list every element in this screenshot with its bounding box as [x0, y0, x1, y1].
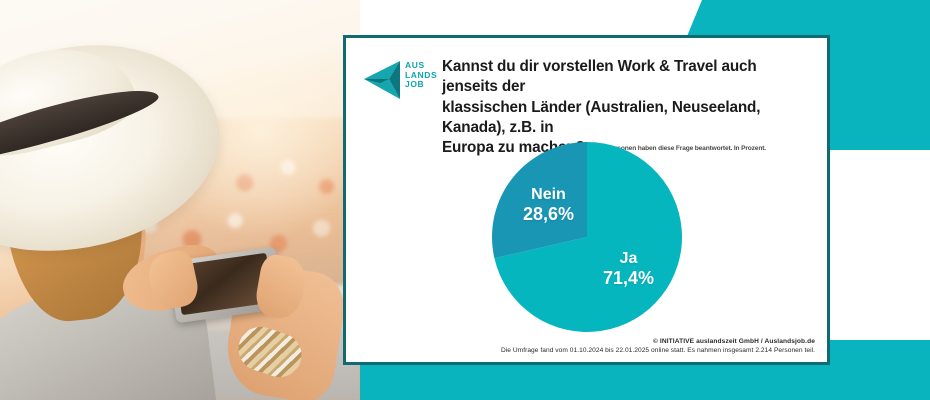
pie-chart: Nein 28,6% Ja 71,4%: [346, 142, 827, 332]
pie-label-ja-value: 71,4%: [592, 268, 666, 288]
headline-line-2: klassischen Länder (Australien, Neuseela…: [442, 98, 811, 139]
pie-chart-wrapper: Nein 28,6% Ja 71,4%: [492, 142, 682, 332]
pie-label-ja-name: Ja: [592, 250, 666, 268]
pie-label-nein-value: 28,6%: [512, 204, 586, 224]
pie-label-nein-name: Nein: [512, 186, 586, 204]
brand-logo-text: AUS LANDS JOB: [405, 58, 437, 90]
logo-line-3: JOB: [405, 80, 437, 90]
poll-card: AUS LANDS JOB Kannst du dir vorstellen W…: [343, 35, 830, 365]
pie-label-nein: Nein 28,6%: [512, 186, 586, 224]
pie-chart-svg: [492, 142, 682, 332]
hero-photo: [0, 0, 360, 400]
card-header: AUS LANDS JOB Kannst du dir vorstellen W…: [346, 38, 827, 159]
survey-period-note: Die Umfrage fand vom 01.10.2024 bis 22.0…: [358, 347, 815, 354]
arrow-left-logo-icon: [362, 58, 402, 102]
poll-infographic: AUS LANDS JOB Kannst du dir vorstellen W…: [0, 0, 930, 400]
copyright-text: © INITIATIVE auslandszeit GmbH / Ausland…: [358, 338, 815, 345]
pie-label-ja: Ja 71,4%: [592, 250, 666, 288]
card-footer: © INITIATIVE auslandszeit GmbH / Ausland…: [346, 338, 827, 354]
headline-line-1: Kannst du dir vorstellen Work & Travel a…: [442, 57, 811, 98]
